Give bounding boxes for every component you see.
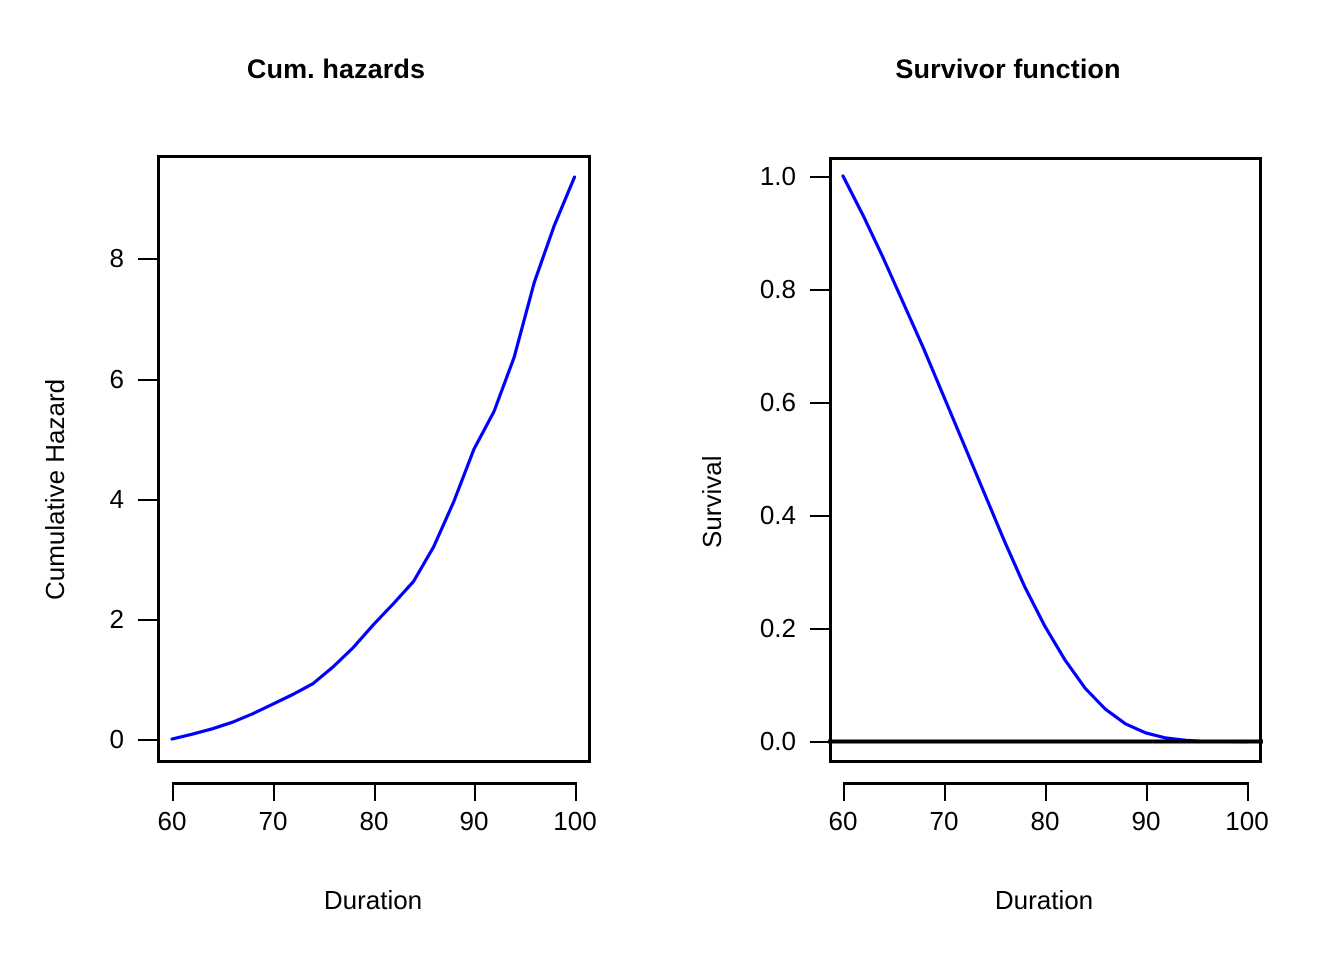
x-tick-left-70 [273, 782, 275, 801]
plot-box-survivor-function [829, 157, 1262, 763]
x-ticklabel-left-90: 90 [434, 808, 514, 834]
y-ticklabel-right-00: 0.0 [720, 728, 796, 754]
y-tick-right-04 [810, 515, 829, 517]
x-ticklabel-left-80: 80 [334, 808, 414, 834]
y-ticklabel-right-02: 0.2 [720, 615, 796, 641]
x-ticklabel-right-60: 60 [803, 808, 883, 834]
y-tick-right-00 [810, 741, 829, 743]
x-tick-right-100 [1247, 782, 1249, 801]
x-tick-left-80 [374, 782, 376, 801]
x-axis-title-left: Duration [223, 885, 523, 915]
y-ticklabel-right-08: 0.8 [720, 276, 796, 302]
figure-canvas: Cum. hazards 0 2 4 6 8 60 70 80 90 100 D… [0, 0, 1344, 960]
panel-survivor-function: Survivor function 0.0 0.2 0.4 0.6 0.8 1.… [672, 0, 1344, 960]
panel-title-survivor-function: Survivor function [672, 52, 1344, 86]
x-ticklabel-left-100: 100 [535, 808, 615, 834]
y-tick-right-06 [810, 402, 829, 404]
y-ticklabel-right-04: 0.4 [720, 502, 796, 528]
y-ticklabel-left-2: 2 [78, 606, 124, 632]
y-tick-left-4 [138, 499, 157, 501]
y-tick-left-8 [138, 258, 157, 260]
x-tick-left-60 [172, 782, 174, 801]
x-ticklabel-right-80: 80 [1005, 808, 1085, 834]
x-tick-left-90 [474, 782, 476, 801]
y-tick-left-2 [138, 619, 157, 621]
x-tick-right-80 [1045, 782, 1047, 801]
y-ticklabel-left-8: 8 [78, 245, 124, 271]
panel-cum-hazards: Cum. hazards 0 2 4 6 8 60 70 80 90 100 D… [0, 0, 672, 960]
y-ticklabel-left-0: 0 [78, 726, 124, 752]
y-tick-right-02 [810, 628, 829, 630]
x-ticklabel-right-100: 100 [1207, 808, 1287, 834]
y-ticklabel-right-06: 0.6 [720, 389, 796, 415]
y-tick-left-0 [138, 739, 157, 741]
x-ticklabel-left-60: 60 [132, 808, 212, 834]
y-tick-right-08 [810, 289, 829, 291]
y-axis-title-right: Survival [697, 456, 727, 548]
x-tick-right-60 [843, 782, 845, 801]
x-ticklabel-right-90: 90 [1106, 808, 1186, 834]
y-ticklabel-left-6: 6 [78, 366, 124, 392]
y-ticklabel-left-4: 4 [78, 486, 124, 512]
y-ticklabel-right-10: 1.0 [720, 163, 796, 189]
x-ticklabel-left-70: 70 [233, 808, 313, 834]
plot-box-cum-hazards [157, 155, 591, 763]
x-ticklabel-right-70: 70 [904, 808, 984, 834]
y-axis-title-left: Cumulative Hazard [40, 379, 70, 600]
panel-title-cum-hazards: Cum. hazards [0, 52, 672, 86]
x-axis-title-right: Duration [894, 885, 1194, 915]
x-tick-right-90 [1146, 782, 1148, 801]
x-tick-left-100 [575, 782, 577, 801]
y-tick-right-10 [810, 176, 829, 178]
x-tick-right-70 [944, 782, 946, 801]
y-tick-left-6 [138, 379, 157, 381]
